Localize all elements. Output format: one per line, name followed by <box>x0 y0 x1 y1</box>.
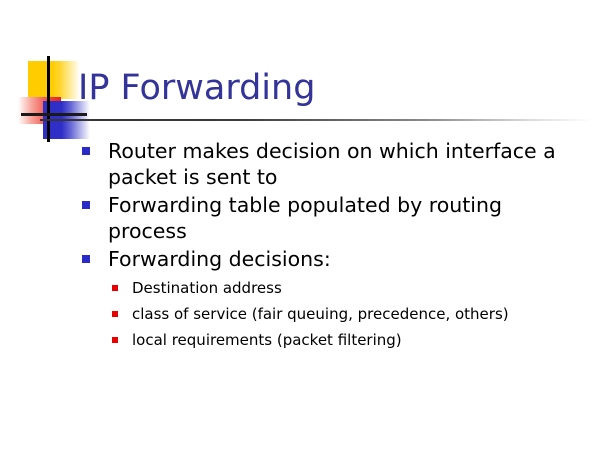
yellow-block-icon <box>28 61 80 99</box>
title-divider <box>40 119 592 121</box>
sub-bullet-square-icon <box>112 337 118 343</box>
list-item: Forwarding decisions: <box>78 246 578 272</box>
slide-body: Router makes decision on which interface… <box>78 138 578 356</box>
presentation-slide: IP Forwarding Router makes decision on w… <box>0 0 600 450</box>
sub-bullet-square-icon <box>112 311 118 317</box>
bullet-square-icon <box>82 147 90 155</box>
list-item-label: Forwarding decisions: <box>108 247 331 271</box>
sub-list-item-label: local requirements (packet filtering) <box>132 331 402 349</box>
sub-list-item: local requirements (packet filtering) <box>110 330 578 350</box>
sub-list-item-label: Destination address <box>132 279 282 297</box>
sub-list: Destination address class of service (fa… <box>78 278 578 350</box>
horizontal-line-icon <box>21 113 87 116</box>
list-item-label: Router makes decision on which interface… <box>108 139 556 189</box>
slide-title: IP Forwarding <box>78 68 315 108</box>
sub-list-item: class of service (fair queuing, preceden… <box>110 304 578 324</box>
list-item: Router makes decision on which interface… <box>78 138 578 190</box>
sub-bullet-square-icon <box>112 285 118 291</box>
list-item-label: Forwarding table populated by routing pr… <box>108 193 502 243</box>
sub-list-item-label: class of service (fair queuing, preceden… <box>132 305 509 323</box>
bullet-square-icon <box>82 201 90 209</box>
sub-list-item: Destination address <box>110 278 578 298</box>
vertical-line-icon <box>47 56 50 142</box>
list-item: Forwarding table populated by routing pr… <box>78 192 578 244</box>
bullet-square-icon <box>82 255 90 263</box>
